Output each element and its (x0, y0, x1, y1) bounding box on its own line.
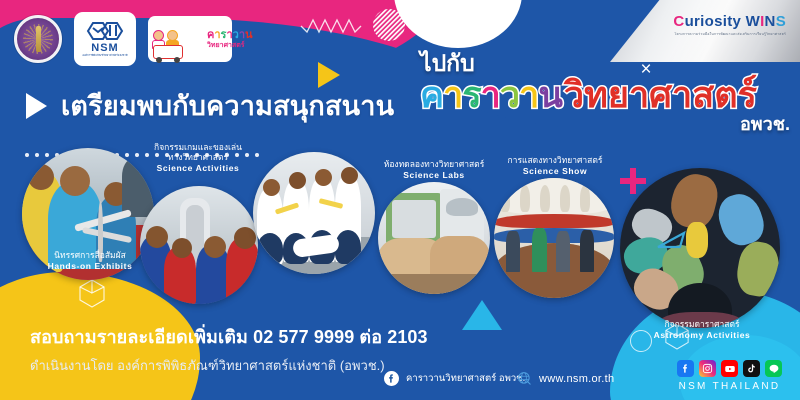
facebook-page-name: คาราวานวิทยาศาสตร์ อพวช. (406, 371, 525, 386)
cube-outline-decoration (78, 278, 106, 308)
title-line2: คาราวานวิทยาศาสตร์ (420, 77, 790, 113)
label-th-line2: ทางวิทยาศาสตร์ (128, 153, 268, 163)
youtube-icon[interactable] (721, 360, 738, 377)
website-link[interactable]: www.nsm.or.th (517, 371, 614, 386)
label-en: Science Activities (128, 164, 268, 174)
photo-students-group (253, 152, 375, 274)
curiosity-wins-title: Curiosity WINS (673, 13, 786, 30)
social-icon-row (677, 360, 782, 377)
caravan-char-2: า (443, 77, 462, 113)
zigzag-decoration (300, 18, 362, 34)
photo-astronomy-activities (620, 168, 780, 328)
label-th: กิจกรรมดาราศาสตร์ (622, 320, 782, 330)
caravan-char-7: น (538, 77, 562, 113)
main-title: ไปกับ คาราวานวิทยาศาสตร์ อพวช. (420, 52, 790, 138)
curiosity-wins-subtitle: โครงการความร่วมมือในการพัฒนาและส่งเสริมก… (673, 32, 786, 37)
website-url: www.nsm.or.th (539, 373, 614, 385)
caravan-char-6: า (519, 77, 538, 113)
contact-block: สอบถามรายละเอียดเพิ่มเติม 02 577 9999 ต่… (30, 322, 428, 376)
facebook-link[interactable]: คาราวานวิทยาศาสตร์ อพวช. (384, 371, 525, 386)
title-line1: ไปกับ (420, 52, 790, 75)
caravan-char-4: า (481, 77, 500, 113)
curiosity-wins-logo: Curiosity WINS โครงการความร่วมมือในการพั… (673, 13, 786, 37)
facebook-icon (384, 371, 399, 386)
contact-org-line: ดำเนินงานโดย องค์การพิพิธภัณฑ์วิทยาศาสตร… (30, 355, 428, 376)
headline-text: เตรียมพบกับความสนุกสนาน (61, 84, 394, 127)
promo-banner: × NSM องค์การพิพิธภัณฑ์วิทยาศาสตร์แห่งชา… (0, 0, 800, 400)
label-th: ห้องทดลองทางวิทยาศาสตร์ (366, 160, 502, 170)
title-caravan: คาราวาน (420, 74, 562, 115)
caravan-logo-text: คาราวาน วิทยาศาสตร์ (207, 30, 245, 49)
label-science-show: การแสดงทางวิทยาศาสตร์ Science Show (488, 156, 622, 177)
globe-icon (517, 371, 532, 386)
caravan-char-1: ค (420, 77, 443, 113)
photo-science-labs (378, 182, 490, 294)
tiktok-icon[interactable] (743, 360, 760, 377)
facebook-icon[interactable] (677, 360, 694, 377)
caravan-logo-line2: วิทยาศาสตร์ (207, 42, 245, 49)
title-org: อพวช. (740, 114, 790, 134)
striped-circle-decoration (372, 8, 406, 42)
label-en: Astronomy Activities (622, 331, 782, 341)
instagram-icon[interactable] (699, 360, 716, 377)
curiosity-rest: uriosity (685, 13, 746, 30)
label-en: Science Show (488, 167, 622, 177)
curiosity-c: C (673, 13, 684, 30)
photo-science-activities (140, 186, 258, 304)
label-th: การแสดงทางวิทยาศาสตร์ (488, 156, 622, 166)
caravan-mascot-logo: คาราวาน วิทยาศาสตร์ (148, 16, 232, 62)
cyan-triangle-decoration (462, 300, 502, 330)
ministry-seal-logo (14, 15, 62, 63)
line-icon[interactable] (765, 360, 782, 377)
wins-s: S (776, 13, 786, 30)
wins-w: W (746, 13, 760, 30)
mascot-cart-icon (153, 45, 183, 59)
photo-science-show (494, 178, 614, 298)
label-science-activities: กิจกรรมเกมและของเล่น ทางวิทยาศาสตร์ Scie… (128, 143, 268, 173)
nsm-hexagon-icon (85, 20, 125, 42)
play-triangle-icon (26, 93, 47, 119)
label-science-labs: ห้องทดลองทางวิทยาศาสตร์ Science Labs (366, 160, 502, 181)
socials-label: NSM THAILAND (677, 381, 782, 392)
contact-phone-line: สอบถามรายละเอียดเพิ่มเติม 02 577 9999 ต่… (30, 322, 428, 351)
headline-row: เตรียมพบกับความสนุกสนาน (26, 84, 394, 127)
caravan-logo-line1: คาราวาน (207, 30, 245, 41)
nsm-logo: NSM องค์การพิพิธภัณฑ์วิทยาศาสตร์แห่งชาติ (74, 12, 136, 66)
social-links: NSM THAILAND (677, 360, 782, 392)
caravan-char-5: ว (500, 77, 519, 113)
logo-row: NSM องค์การพิพิธภัณฑ์วิทยาศาสตร์แห่งชาติ… (14, 12, 232, 66)
nsm-subtitle: องค์การพิพิธภัณฑ์วิทยาศาสตร์แห่งชาติ (82, 55, 127, 58)
wins-n: N (765, 13, 776, 30)
constellation-triangle-icon (656, 230, 686, 250)
title-science: วิทยาศาสตร์ (564, 74, 757, 115)
label-en: Science Labs (366, 171, 502, 181)
label-astronomy-activities: กิจกรรมดาราศาสตร์ Astronomy Activities (622, 320, 782, 341)
nsm-acronym: NSM (91, 43, 118, 54)
caravan-char-3: ร (462, 77, 480, 113)
